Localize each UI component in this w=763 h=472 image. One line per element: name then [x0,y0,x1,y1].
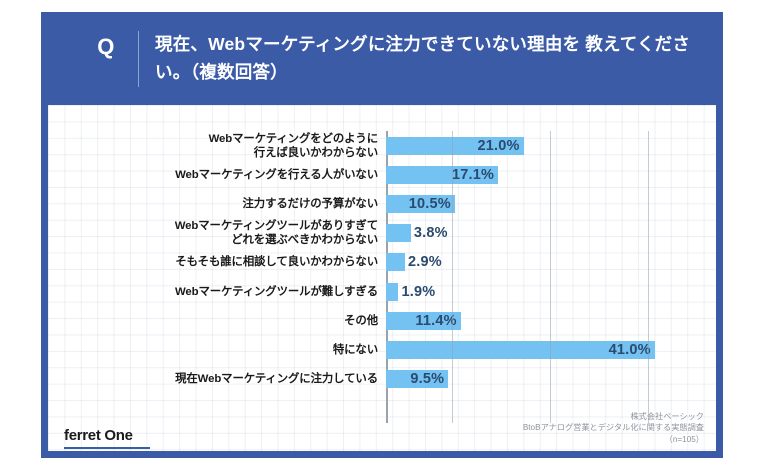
gridline [452,131,453,423]
bar-row: Webマーケティングを行える人がいない17.1% [48,160,716,189]
bar-value-label: 3.8% [414,225,448,241]
category-label: Webマーケティングをどのように 行えば良いかわからない [88,131,378,159]
slide-panel: Q 現在、Webマーケティングに注力できていない理由を 教えてください。（複数回… [41,12,723,458]
bar-container: 41.0% [386,341,655,359]
category-label: そもそも誰に相談して良いかわからない [88,255,378,269]
bar-row: そもそも誰に相談して良いかわからない2.9% [48,248,716,277]
bar [386,283,398,301]
brand-logo: ferret One [64,427,133,444]
bar-row: Webマーケティングツールがありすぎて どれを選ぶべきかわからない3.8% [48,219,716,248]
source-sample-size: （n=105） [523,434,704,446]
bar-value-label: 11.4% [415,313,456,329]
bar-container: 11.4% [386,312,461,330]
category-label: Webマーケティングを行える人がいない [88,168,378,182]
bar-value-label: 17.1% [452,167,494,183]
category-label: 注力するだけの予算がない [88,197,378,211]
bar-container: 21.0% [386,137,524,155]
bar-row: Webマーケティングツールが難しすぎる1.9% [48,277,716,306]
source-attribution: 株式会社ベーシック BtoBアナログ営業とデジタル化に関する実態調査 （n=10… [523,411,704,446]
bar-value-label: 2.9% [408,254,442,270]
bar-value-label: 41.0% [609,342,651,358]
chart-card: Webマーケティングをどのように 行えば良いかわからない21.0%Webマーケテ… [48,105,716,451]
bar-value-label: 21.0% [478,138,520,154]
bar-container: 10.5% [386,195,455,213]
bar [386,253,405,271]
source-survey: BtoBアナログ営業とデジタル化に関する実態調査 [523,422,704,434]
bar-row: Webマーケティングをどのように 行えば良いかわからない21.0% [48,131,716,160]
bar [386,224,411,242]
bar-row: 注力するだけの予算がない10.5% [48,189,716,218]
bar-container: 2.9% [386,253,405,271]
question-badge: Q [71,34,141,60]
category-label: 現在Webマーケティングに注力している [88,372,378,386]
gridline [648,131,649,423]
bar-value-label: 10.5% [409,196,451,212]
bar-chart: Webマーケティングをどのように 行えば良いかわからない21.0%Webマーケテ… [48,105,716,451]
source-company: 株式会社ベーシック [523,411,704,423]
category-label: その他 [88,314,378,328]
question-header: Q 現在、Webマーケティングに注力できていない理由を 教えてください。（複数回… [41,12,723,105]
gridline [550,131,551,423]
category-label: Webマーケティングツールがありすぎて どれを選ぶべきかわからない [88,219,378,247]
bar-row: 現在Webマーケティングに注力している9.5% [48,365,716,394]
bar-row: 特にない41.0% [48,335,716,364]
bar-value-label: 9.5% [410,371,444,387]
header-divider [138,31,139,87]
bar-container: 17.1% [386,166,498,184]
category-label: Webマーケティングツールが難しすぎる [88,284,378,298]
bar-row: その他11.4% [48,306,716,335]
bar-container: 9.5% [386,370,448,388]
question-text: 現在、Webマーケティングに注力できていない理由を 教えてください。（複数回答） [155,30,700,86]
brand-logo-underline [64,447,150,450]
bar-container: 1.9% [386,283,398,301]
bar-value-label: 1.9% [401,284,435,300]
bar-container: 3.8% [386,224,411,242]
category-label: 特にない [88,343,378,357]
